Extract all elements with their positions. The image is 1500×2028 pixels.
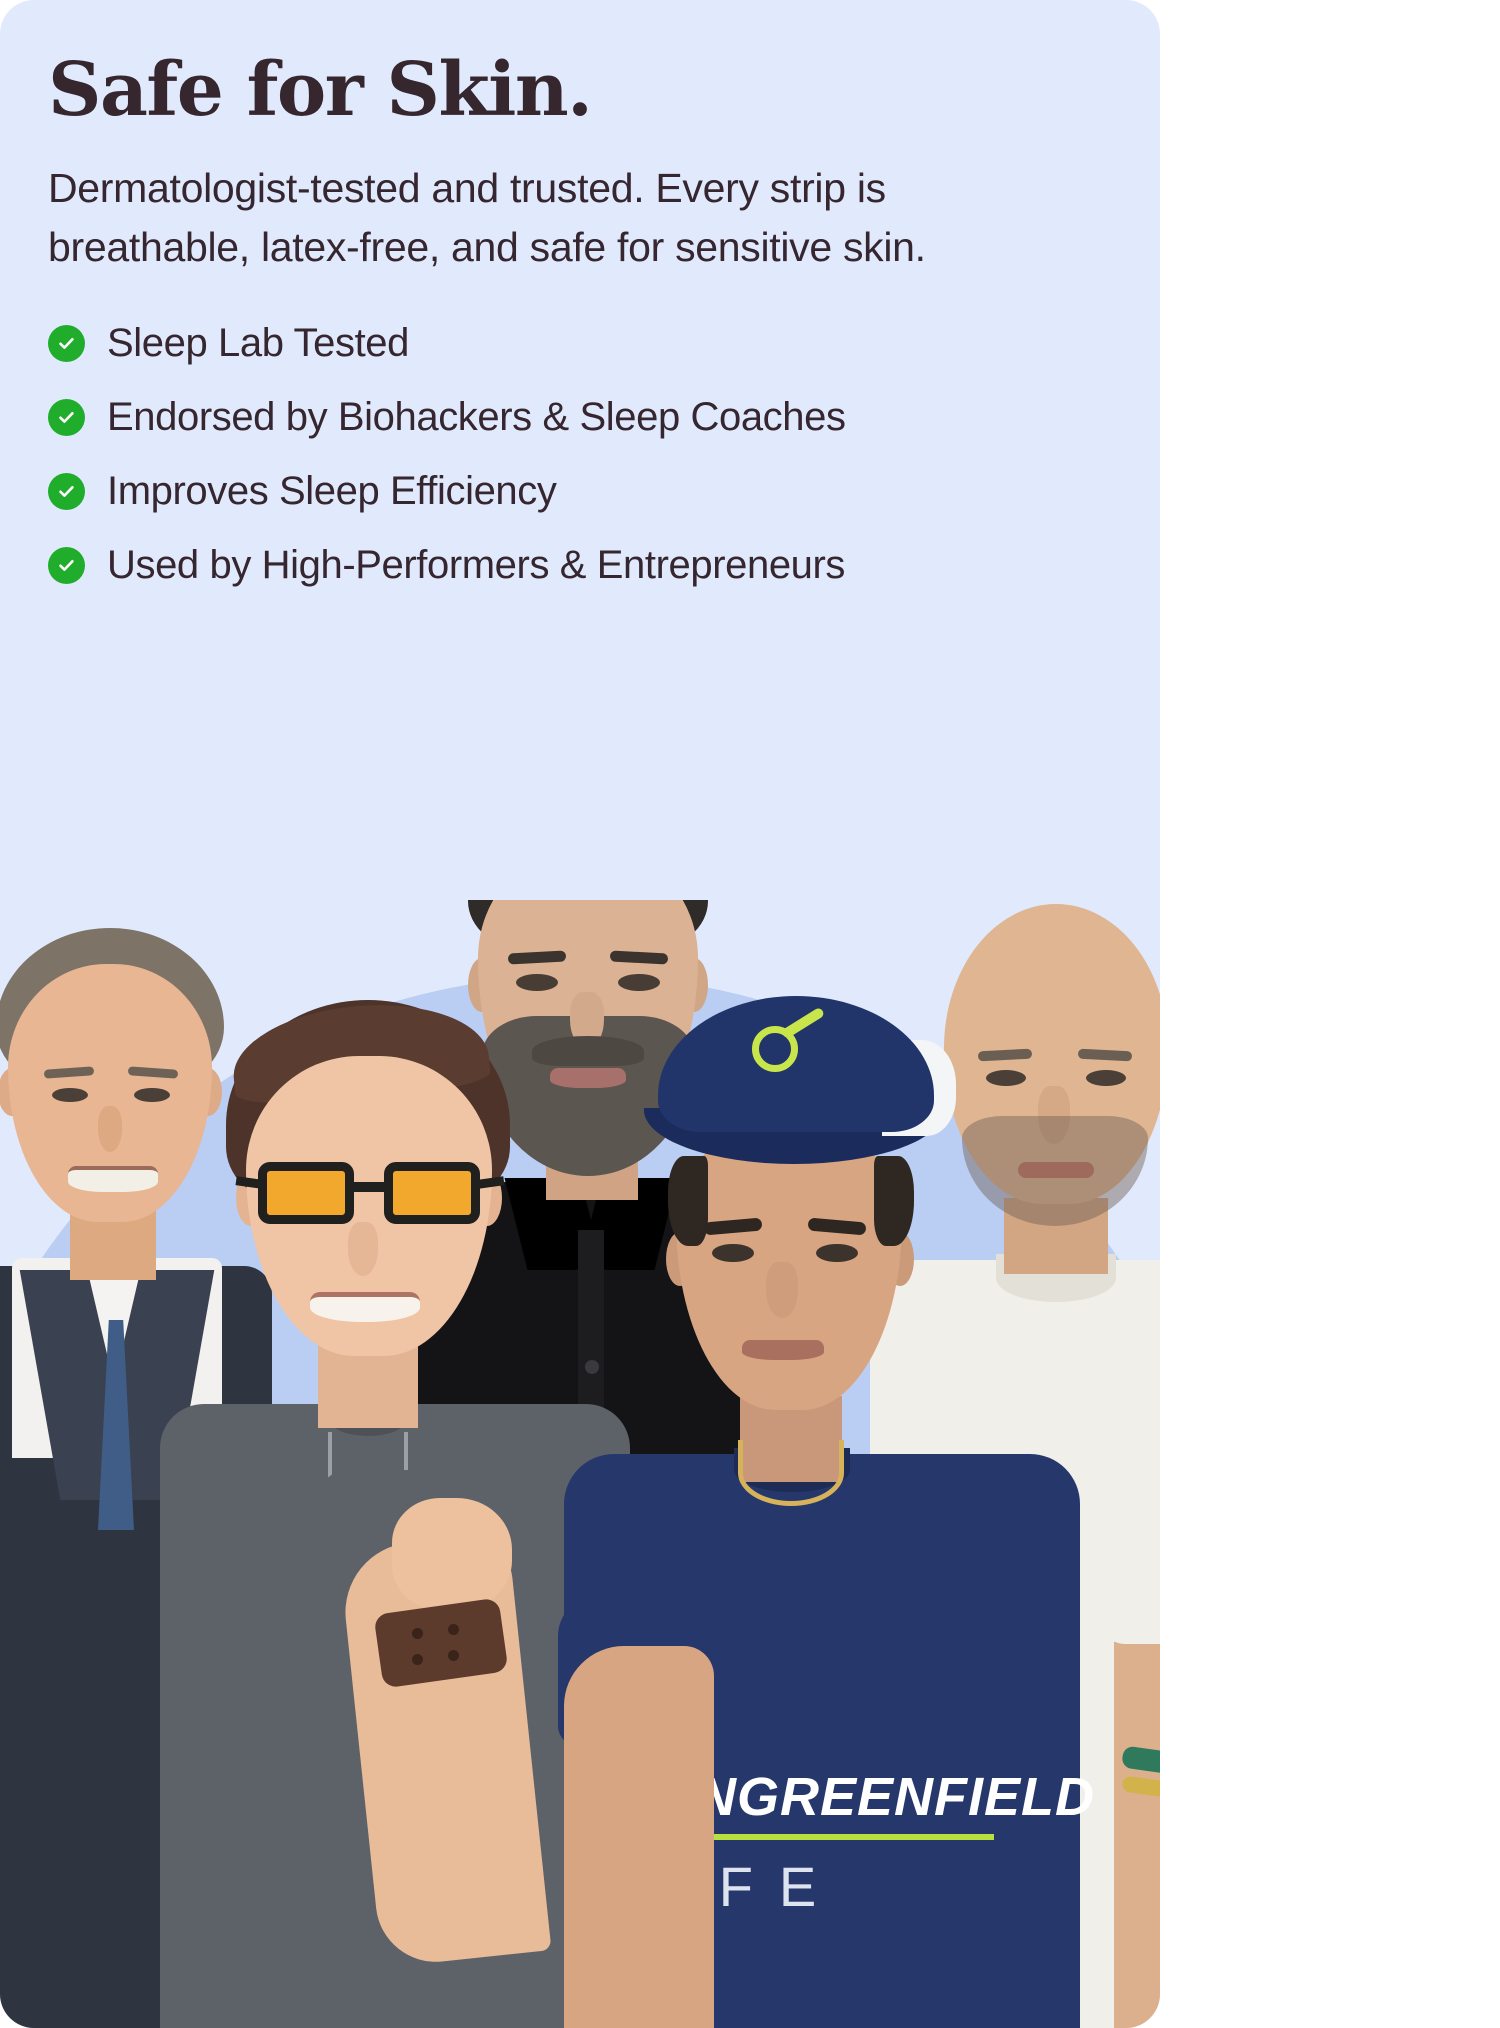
mouth — [68, 1166, 158, 1192]
eye-left — [516, 974, 558, 991]
gold-chain — [738, 1440, 844, 1506]
wristband-stud — [412, 1654, 423, 1665]
checklist-label: Endorsed by Biohackers & Sleep Coaches — [107, 395, 846, 439]
nose — [766, 1262, 798, 1318]
mouth — [742, 1340, 824, 1360]
amber-glasses-lens-right — [384, 1162, 480, 1224]
card-subcopy: Dermatologist-tested and trusted. Every … — [48, 159, 1093, 277]
check-circle-icon — [48, 325, 85, 362]
endorser-photo-2 — [200, 1000, 620, 2028]
list-item: Sleep Lab Tested — [48, 321, 1108, 365]
checklist-label: Improves Sleep Efficiency — [107, 469, 556, 513]
hair-left — [668, 1156, 708, 1246]
eye-right — [1086, 1070, 1126, 1086]
list-item: Used by High-Performers & Entrepreneurs — [48, 543, 1108, 587]
amber-glasses-lens-left — [258, 1162, 354, 1224]
check-circle-icon — [48, 473, 85, 510]
page-title: Safe for Skin. — [48, 52, 1108, 129]
screenshot-root: Safe for Skin. Dermatologist-tested and … — [0, 0, 1500, 2028]
check-circle-icon — [48, 547, 85, 584]
checklist-label: Sleep Lab Tested — [107, 321, 409, 365]
neck — [318, 1344, 418, 1428]
card-content: Safe for Skin. Dermatologist-tested and … — [48, 52, 1108, 617]
checklist-label: Used by High-Performers & Entrepreneurs — [107, 543, 845, 587]
eye-left — [712, 1244, 754, 1262]
benefits-checklist: Sleep Lab Tested Endorsed by Biohackers … — [48, 321, 1108, 587]
list-item: Improves Sleep Efficiency — [48, 469, 1108, 513]
wristband-stud — [448, 1650, 459, 1661]
list-item: Endorsed by Biohackers & Sleep Coaches — [48, 395, 1108, 439]
sleeve-right — [1096, 1464, 1160, 1644]
nose — [98, 1106, 122, 1152]
endorser-photo-collage: BENGREENFIELD LIFE — [0, 900, 1160, 2028]
arm-left — [564, 1646, 714, 2028]
eye-right — [618, 974, 660, 991]
fist — [392, 1498, 512, 1610]
glasses-bridge — [354, 1182, 384, 1192]
nose — [348, 1222, 378, 1276]
safe-for-skin-card: Safe for Skin. Dermatologist-tested and … — [0, 0, 1160, 2028]
mouth — [310, 1292, 420, 1322]
eye-left — [52, 1088, 88, 1102]
hair-right — [874, 1156, 914, 1246]
wristband-stud — [412, 1628, 423, 1639]
eye-right — [816, 1244, 858, 1262]
endorser-photo-4: BENGREENFIELD LIFE — [610, 996, 1040, 2028]
eye-right — [134, 1088, 170, 1102]
check-circle-icon — [48, 399, 85, 436]
cap-crown — [658, 996, 934, 1132]
wristband-stud — [448, 1624, 459, 1635]
